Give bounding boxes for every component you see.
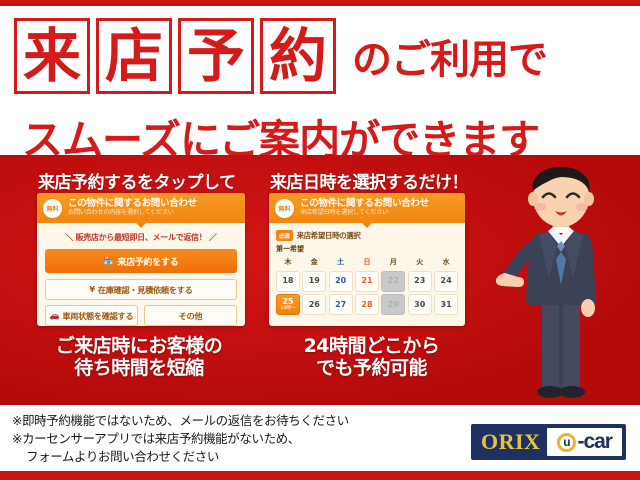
free-badge: 無料	[275, 199, 294, 218]
calendar-day-number: 18	[282, 277, 293, 285]
stock-quote-label: 在庫確認・見積依頼をする	[98, 284, 193, 296]
calendar-day-header: 金	[302, 257, 326, 268]
required-tag: 必須	[276, 230, 293, 241]
stock-quote-button[interactable]: ¥ 在庫確認・見積依頼をする	[45, 279, 237, 300]
calendar-day-header: 日	[355, 257, 379, 268]
businessman-illustration	[496, 161, 626, 405]
mockup-header-text: この物件に関するお問い合わせ お問い合わせの内容を選択してください	[68, 199, 197, 217]
right-caption-line1: 24時間どこから	[264, 335, 479, 357]
car-icon: 🚗	[50, 312, 60, 320]
other-button[interactable]: その他	[144, 305, 237, 326]
calendar-day-cell[interactable]: 24	[434, 271, 458, 292]
calendar-day-cell[interactable]: 21	[355, 271, 379, 292]
calendar-day-number: 31	[441, 301, 452, 309]
calendar-header-subtitle: 来店希望日時を選択してください	[300, 210, 429, 217]
calendar-day-number: 24	[441, 277, 452, 285]
free-badge: 無料	[43, 199, 62, 218]
calendar-day-cell[interactable]: 2514時～	[276, 294, 300, 315]
vehicle-condition-label: 車両状態を確認する	[62, 310, 133, 322]
calendar-day-number: 20	[335, 277, 346, 285]
footnote-block: ※即時予約機能ではないため、メールの返信をお待ちください ※カーセンサーアプリで…	[12, 412, 462, 465]
calendar-day-number: 27	[335, 301, 346, 309]
calendar-day-cell[interactable]: 18	[276, 271, 300, 292]
left-caption-line1: ご来店時にお客様の	[14, 335, 264, 357]
calendar-day-header: 木	[276, 257, 300, 268]
calendar-day-number: 21	[361, 277, 372, 285]
calendar-header-text: この物件に関するお問い合わせ 来店希望日時を選択してください	[300, 199, 429, 217]
kanji-box-3: 予	[178, 18, 254, 94]
calendar-day-header: 月	[381, 257, 405, 268]
calendar-day-number: 22	[388, 277, 399, 285]
calendar-mockup-header: 無料 この物件に関するお問い合わせ 来店希望日時を選択してください	[269, 193, 465, 223]
calendar-day-number: 23	[414, 277, 425, 285]
footnote-1: ※即時予約機能ではないため、メールの返信をお待ちください	[12, 412, 462, 430]
footnote-2: ※カーセンサーアプリでは来店予約機能がないため、	[12, 430, 462, 448]
calendar-day-header: 火	[408, 257, 432, 268]
right-caption-line2: でも予約可能	[264, 357, 479, 379]
required-label: 来店希望日時の選択	[297, 230, 361, 241]
calendar-day-cell[interactable]: 26	[302, 294, 326, 315]
headline-block: 来 店 予 約 のご利用で スムーズにご案内ができます	[0, 10, 640, 155]
calendar-day-cell[interactable]: 27	[329, 294, 353, 315]
right-caption: 24時間どこから でも予約可能	[264, 335, 479, 380]
mockup-header-subtitle: お問い合わせの内容を選択してください	[68, 210, 197, 217]
reserve-visit-label: 来店予約をする	[117, 255, 178, 268]
header-notch	[362, 223, 372, 228]
kanji-box-1: 来	[14, 18, 90, 94]
inquiry-form-mockup: 無料 この物件に関するお問い合わせ お問い合わせの内容を選択してください ＼ 販…	[37, 193, 245, 326]
calendar-day-number: 25	[282, 298, 293, 306]
left-caption-line2: 待ち時間を短縮	[14, 357, 264, 379]
calendar-day-cell[interactable]: 30	[408, 294, 432, 315]
u-ring-icon: u	[557, 433, 576, 452]
reply-promise-text: ＼ 販売店から最短即日、メールで返信！ ／	[45, 232, 237, 243]
secondary-button-row: 🚗 車両状態を確認する その他	[45, 305, 237, 326]
right-column-title: 来店日時を選択するだけ！	[270, 168, 468, 193]
footnote-3: フォームよりお問い合わせください	[12, 448, 462, 466]
vehicle-condition-button[interactable]: 🚗 車両状態を確認する	[45, 305, 138, 326]
headline-tail-text: のご利用で	[352, 27, 547, 85]
other-label: その他	[179, 310, 203, 322]
calendar-day-header: 土	[329, 257, 353, 268]
calendar-day-cell: 22	[381, 271, 405, 292]
store-icon: 🏪	[104, 257, 114, 265]
calendar-grid: 木金土日月火水181920212223242514時～262728293031	[276, 257, 458, 315]
orix-ucar-logo: ORIX u -car	[471, 424, 626, 460]
feature-band: 来店予約するをタップして 来店日時を選択するだけ！ 無料 この物件に関するお問い…	[0, 155, 640, 405]
calendar-day-cell[interactable]: 28	[355, 294, 379, 315]
yen-icon: ¥	[90, 286, 95, 294]
calendar-day-number: 28	[361, 301, 372, 309]
ucar-wordmark: u -car	[547, 428, 622, 456]
calendar-day-number: 26	[309, 301, 320, 309]
orix-wordmark: ORIX	[475, 429, 547, 455]
calendar-day-time: 14時～	[280, 307, 295, 312]
calendar-day-number: 30	[414, 301, 425, 309]
preference-label: 第一希望	[276, 244, 458, 254]
top-accent-bar	[0, 0, 640, 6]
calendar-body: 必須 来店希望日時の選択 第一希望 木金土日月火水181920212223242…	[269, 223, 465, 320]
calendar-day-cell: 29	[381, 294, 405, 315]
calendar-day-number: 29	[388, 301, 399, 309]
calendar-day-header: 水	[434, 257, 458, 268]
kanji-box-2: 店	[96, 18, 172, 94]
car-text: -car	[577, 430, 612, 454]
left-caption: ご来店時にお客様の 待ち時間を短縮	[14, 335, 264, 380]
left-column-title: 来店予約するをタップして	[38, 168, 236, 193]
reserve-visit-button[interactable]: 🏪 来店予約をする	[45, 249, 237, 273]
mockup-body: ＼ 販売店から最短即日、メールで返信！ ／ 🏪 来店予約をする ¥ 在庫確認・見…	[37, 223, 245, 326]
calendar-day-cell[interactable]: 19	[302, 271, 326, 292]
calendar-day-cell[interactable]: 31	[434, 294, 458, 315]
calendar-mockup: 無料 この物件に関するお問い合わせ 来店希望日時を選択してください 必須 来店希…	[269, 193, 465, 326]
bottom-accent-bar	[0, 471, 640, 480]
header-notch	[136, 223, 146, 228]
advertisement-page: 来 店 予 約 のご利用で スムーズにご案内ができます 来店予約するをタップして…	[0, 0, 640, 480]
calendar-day-cell[interactable]: 20	[329, 271, 353, 292]
calendar-day-number: 19	[309, 277, 320, 285]
calendar-day-cell[interactable]: 23	[408, 271, 432, 292]
headline-line1: 来 店 予 約 のご利用で	[14, 18, 547, 94]
mockup-header: 無料 この物件に関するお問い合わせ お問い合わせの内容を選択してください	[37, 193, 245, 223]
kanji-box-4: 約	[260, 18, 336, 94]
required-field-line: 必須 来店希望日時の選択	[276, 230, 458, 241]
